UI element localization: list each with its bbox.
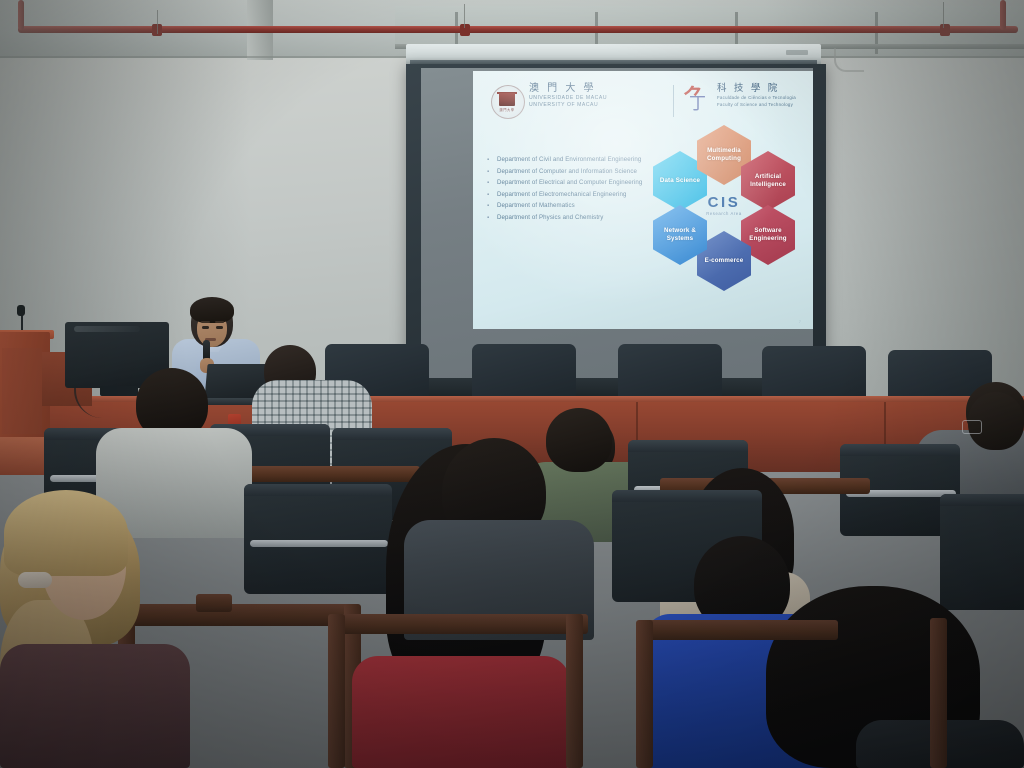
hanger-wire: [464, 4, 465, 28]
bullet-marker-icon: ▪: [487, 155, 492, 166]
list-item: ▪ Department of Electromechanical Engine…: [487, 190, 653, 201]
faculty-name-block: 科 技 學 院 Faculdade de Ciências e Tecnolog…: [717, 83, 813, 108]
university-of-macau-seal-icon: 澳門大學: [491, 85, 525, 119]
faculty-name-portuguese: Faculdade de Ciências e Tecnologia: [717, 95, 813, 102]
bullet-marker-icon: ▪: [487, 201, 492, 212]
diagram-center-title: CIS: [708, 195, 741, 210]
audience-chair: [244, 484, 392, 594]
slide-page-number: 7: [799, 319, 801, 324]
faculty-name-chinese: 科 技 學 院: [717, 83, 813, 95]
university-name-portuguese: UNIVERSIDADE DE MACAU: [529, 95, 669, 102]
department-list: ▪ Department of Civil and Environmental …: [487, 155, 653, 224]
cable-hook: [834, 48, 864, 72]
eyeglasses-icon: [962, 420, 982, 434]
list-item-label: Department of Civil and Environmental En…: [497, 155, 641, 166]
list-item-label: Department of Physics and Chemistry: [497, 213, 603, 224]
bullet-marker-icon: ▪: [487, 213, 492, 224]
fst-logo-icon: ⺈ 丁: [683, 85, 711, 117]
monitor-glare: [74, 326, 140, 332]
list-item-label: Department of Electromechanical Engineer…: [497, 190, 626, 201]
university-name-chinese: 澳 門 大 學: [529, 83, 669, 95]
list-item: ▪ Department of Civil and Environmental …: [487, 155, 653, 166]
lecture-hall-photo: 澳門大學 澳 門 大 學 UNIVERSIDADE DE MACAU UNIVE…: [0, 0, 1024, 768]
bullet-marker-icon: ▪: [487, 167, 492, 178]
list-item: ▪ Department of Electrical and Computer …: [487, 178, 653, 189]
list-item: ▪ Department of Computer and Information…: [487, 167, 653, 178]
diagram-center: CIS Research Area: [697, 178, 751, 232]
faculty-name-english: Faculty of Science and Technology: [717, 102, 813, 109]
hair-tie: [18, 572, 52, 588]
cis-research-area-diagram: Data Science Multimedia Computing Artifi…: [651, 123, 811, 303]
microphone-icon: [17, 305, 25, 316]
university-name-block: 澳 門 大 學 UNIVERSIDADE DE MACAU UNIVERSITY…: [529, 83, 669, 110]
presenter-hair: [190, 297, 234, 323]
list-item: ▪ Department of Mathematics: [487, 201, 653, 212]
bullet-marker-icon: ▪: [487, 190, 492, 201]
list-item-label: Department of Electrical and Computer En…: [497, 178, 642, 189]
list-item: ▪ Department of Physics and Chemistry: [487, 213, 653, 224]
screen-surface: 澳門大學 澳 門 大 學 UNIVERSIDADE DE MACAU UNIVE…: [421, 68, 813, 378]
valance-label: [786, 50, 808, 55]
sprinkler-joint: [460, 24, 470, 36]
slide-header: 澳門大學 澳 門 大 學 UNIVERSIDADE DE MACAU UNIVE…: [473, 81, 813, 121]
projection-screen: 澳門大學 澳 門 大 學 UNIVERSIDADE DE MACAU UNIVE…: [406, 64, 826, 394]
lectern-panel: [2, 348, 42, 434]
university-name-english: UNIVERSITY OF MACAU: [529, 102, 669, 109]
list-item-label: Department of Mathematics: [497, 201, 575, 212]
presentation-slide: 澳門大學 澳 門 大 學 UNIVERSIDADE DE MACAU UNIVE…: [473, 71, 813, 329]
audience-chair: [940, 494, 1024, 610]
diagram-center-subtitle: Research Area: [706, 211, 742, 216]
bullet-marker-icon: ▪: [487, 178, 492, 189]
header-divider: [673, 85, 674, 117]
list-item-label: Department of Computer and Information S…: [497, 167, 637, 178]
